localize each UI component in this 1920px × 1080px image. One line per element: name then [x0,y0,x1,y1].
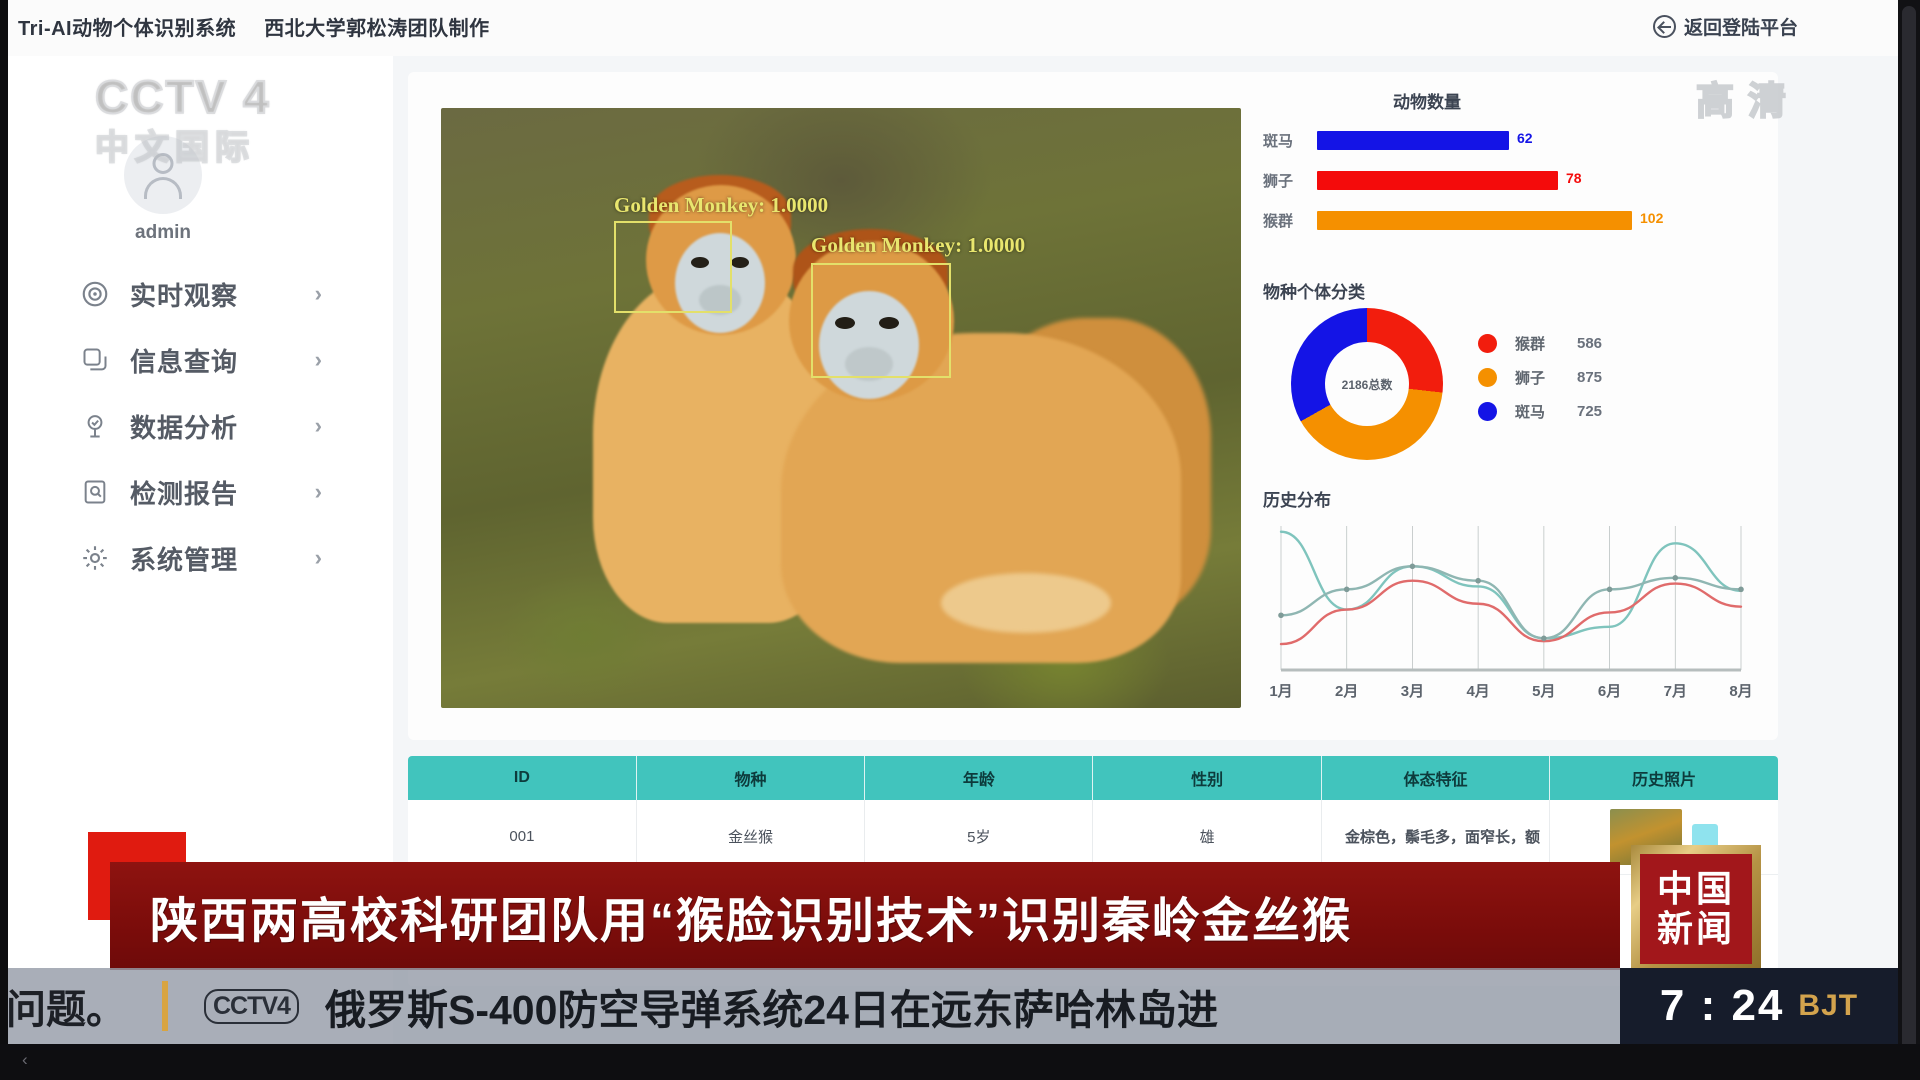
user-icon-head [153,153,174,174]
sidebar-item-label: 实时观察 [130,276,315,313]
sidebar-item-system-management[interactable]: 系统管理 › [78,525,328,591]
detection-box-2: Golden Monkey: 1.0000 [811,263,951,378]
column-header-photos[interactable]: 历史照片 [1550,756,1778,800]
back-arrow-icon [1653,15,1676,38]
app-title: Tri-AI动物个体识别系统 西北大学郭松涛团队制作 [18,12,490,41]
chevron-right-icon: › [315,479,328,505]
sidebar-menu: 实时观察 › 信息查询 › [78,261,328,591]
animal-count-bar-chart: 动物数量 斑马 62 狮子 78 [1263,86,1753,266]
legend-value: 586 [1577,335,1602,352]
column-header-id[interactable]: ID [408,756,636,800]
app-subtitle-text: 西北大学郭松涛团队制作 [264,18,490,40]
svg-text:6月: 6月 [1598,683,1621,700]
sidebar-item-detection-report[interactable]: 检测报告 › [78,459,328,525]
donut-center-label: 2186总数 [1325,342,1409,426]
sidebar-item-label: 检测报告 [130,474,315,511]
ticker-headline: 俄罗斯S-400防空导弹系统24日在远东萨哈林岛进 [325,976,1218,1036]
svg-text:2月: 2月 [1335,683,1358,700]
legend-label: 斑马 [1515,401,1577,422]
species-distribution-donut-chart: 物种个体分类 2186总数 猴群 586 [1263,278,1753,483]
sidebar-item-label: 系统管理 [130,540,315,577]
scrollbar-thumb[interactable] [1902,6,1916,1074]
username-label: admin [103,222,223,244]
ticker-channel-logo: CCTV4 [204,989,299,1024]
user-icon-body [144,177,182,199]
ticker-previous-text: 问题。 [6,977,126,1035]
chevron-right-icon: › [315,347,328,373]
broadcast-screen: Tri-AI动物个体识别系统 西北大学郭松涛团队制作 返回登陆平台 admin [0,0,1920,1080]
bar-row: 斑马 62 [1263,130,1753,151]
detection-box-1-label: Golden Monkey: 1.0000 [614,193,828,218]
sidebar-item-info-query[interactable]: 信息查询 › [78,327,328,393]
china-news-logo-line2: 新闻 [1657,911,1735,947]
back-to-login-button[interactable]: 返回登陆平台 [1653,13,1798,40]
sidebar-item-data-analysis[interactable]: 数据分析 › [78,393,328,459]
bar-track: 78 [1317,171,1753,190]
bar-value: 102 [1640,210,1663,226]
target-icon [78,277,112,311]
bar-chart-title: 动物数量 [1393,88,1461,113]
line-chart-plot: 1月2月3月4月5月6月7月8月 [1263,512,1753,702]
clock-bar: 7 : 24 BJT [1620,968,1898,1044]
legend-label: 狮子 [1515,367,1577,388]
donut-ring: 2186总数 [1291,308,1443,460]
analysis-icon [78,409,112,443]
detection-box-1: Golden Monkey: 1.0000 [614,221,732,313]
legend-value: 875 [1577,369,1602,386]
history-distribution-line-chart: 历史分布 1月2月3月4月5月6月7月8月 [1263,486,1753,726]
donut-legend: 猴群 586 狮子 875 斑马 725 [1478,326,1602,428]
observation-panel: Golden Monkey: 1.0000 Golden Monkey: 1.0… [408,72,1778,740]
column-header-species[interactable]: 物种 [636,756,864,800]
svg-text:3月: 3月 [1401,683,1424,700]
frame-bottom-edge: ‹ [0,1044,1920,1080]
user-block: admin [103,136,223,244]
line-chart-title: 历史分布 [1263,486,1331,511]
chevron-right-icon: › [315,545,328,571]
report-icon [78,475,112,509]
copy-icon [78,343,112,377]
bar-value: 78 [1566,170,1582,186]
headline-banner: 陕西两高校科研团队用“猴脸识别技术”识别秦岭金丝猴 [110,862,1620,970]
chevron-right-icon: › [315,413,328,439]
legend-label: 猴群 [1515,333,1577,354]
legend-color-dot [1478,334,1497,353]
sidebar-item-realtime[interactable]: 实时观察 › [78,261,328,327]
legend-color-dot [1478,402,1497,421]
chevron-left-icon: ‹ [22,1050,28,1070]
sidebar-item-label: 信息查询 [130,342,315,379]
svg-text:1月: 1月 [1269,683,1292,700]
detection-box-2-label: Golden Monkey: 1.0000 [811,233,1025,258]
bar-row: 猴群 102 [1263,210,1753,231]
gear-icon [78,541,112,575]
bar-label: 猴群 [1263,210,1317,231]
donut-chart-title: 物种个体分类 [1263,278,1365,303]
analytics-column: 动物数量 斑马 62 狮子 78 [1263,86,1753,726]
app-header: Tri-AI动物个体识别系统 西北大学郭松涛团队制作 返回登陆平台 [8,0,1898,56]
bar-track: 102 [1317,211,1753,230]
column-header-sex[interactable]: 性别 [1093,756,1321,800]
legend-item: 斑马 725 [1478,394,1602,428]
clock-timezone: BJT [1798,989,1858,1023]
bar-value: 62 [1517,130,1533,146]
avatar[interactable] [124,136,202,214]
bar-label: 斑马 [1263,130,1317,151]
ticker-separator [162,981,168,1031]
headline-text: 陕西两高校科研团队用“猴脸识别技术”识别秦岭金丝猴 [150,881,1352,951]
sidebar-item-label: 数据分析 [130,408,315,445]
scrollbar-track[interactable] [1898,0,1920,1080]
legend-color-dot [1478,368,1497,387]
column-header-features[interactable]: 体态特征 [1321,756,1549,800]
chevron-right-icon: › [315,281,328,307]
china-news-logo: 中国 新闻 [1631,845,1761,973]
news-ticker: 问题。 CCTV4 俄罗斯S-400防空导弹系统24日在远东萨哈林岛进 [0,968,1620,1044]
china-news-logo-line1: 中国 [1657,871,1735,907]
svg-text:7月: 7月 [1664,683,1687,700]
bar-label: 狮子 [1263,170,1317,191]
clock-time: 7 : 24 [1660,981,1785,1031]
legend-item: 狮子 875 [1478,360,1602,394]
svg-text:4月: 4月 [1466,683,1489,700]
bar-track: 62 [1317,131,1753,150]
table-header-row: ID 物种 年龄 性别 体态特征 历史照片 [408,756,1778,800]
svg-text:5月: 5月 [1532,683,1555,700]
detection-image[interactable]: Golden Monkey: 1.0000 Golden Monkey: 1.0… [441,108,1241,708]
legend-item: 猴群 586 [1478,326,1602,360]
app-title-text: Tri-AI动物个体识别系统 [18,18,236,40]
legend-value: 725 [1577,403,1602,420]
column-header-age[interactable]: 年龄 [865,756,1093,800]
bar-row: 狮子 78 [1263,170,1753,191]
svg-text:8月: 8月 [1729,683,1752,700]
frame-left-edge [0,0,8,1080]
back-to-login-label: 返回登陆平台 [1684,13,1798,40]
